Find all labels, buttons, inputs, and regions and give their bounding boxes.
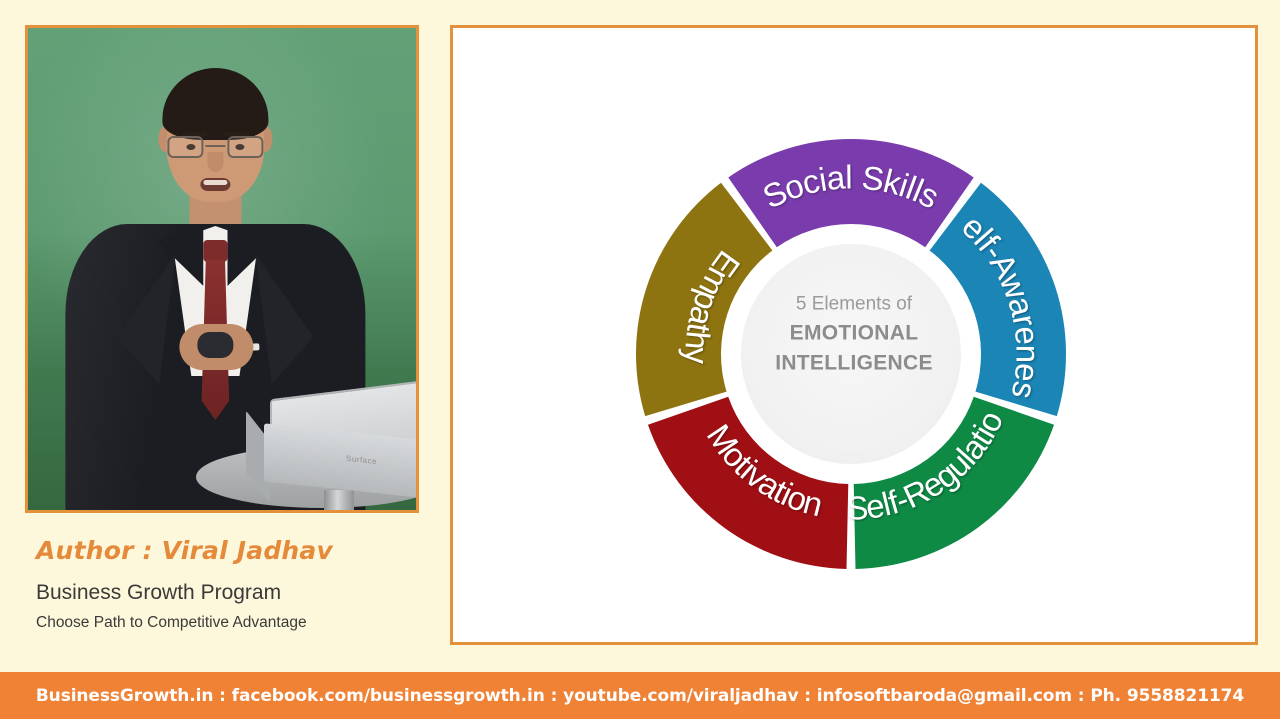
author-name: Author : Viral Jadhav <box>36 536 436 565</box>
program-title: Business Growth Program <box>36 581 436 605</box>
round-table-stem <box>324 490 354 513</box>
donut-center-text: 5 Elements of EMOTIONAL INTELLIGENCE <box>739 292 969 379</box>
slide-root: Surface Author : Viral Jadhav Business G… <box>0 0 1280 719</box>
center-text-line-3: INTELLIGENCE <box>739 348 969 378</box>
necktie-knot <box>203 240 227 262</box>
glasses-lens-left <box>167 136 203 158</box>
center-text-line-1: 5 Elements of <box>739 292 969 319</box>
glasses-lens-right <box>227 136 263 158</box>
emotional-intelligence-donut-chart: Self-AwarenessSelf-RegulationMotivationE… <box>453 28 1255 642</box>
presenter-mouth <box>200 178 230 191</box>
author-block: Author : Viral Jadhav Business Growth Pr… <box>36 536 436 632</box>
presenter-hands <box>179 324 253 370</box>
contact-banner: BusinessGrowth.in : facebook.com/busines… <box>0 672 1280 719</box>
contact-banner-text: BusinessGrowth.in : facebook.com/busines… <box>36 686 1244 706</box>
presenter-nose <box>207 152 223 172</box>
diagram-panel: Self-AwarenessSelf-RegulationMotivationE… <box>450 25 1258 645</box>
presenter-video-panel[interactable]: Surface <box>25 25 419 513</box>
program-tagline: Choose Path to Competitive Advantage <box>36 614 436 632</box>
center-text-line-2: EMOTIONAL <box>739 319 969 349</box>
presenter-hair <box>162 68 268 140</box>
